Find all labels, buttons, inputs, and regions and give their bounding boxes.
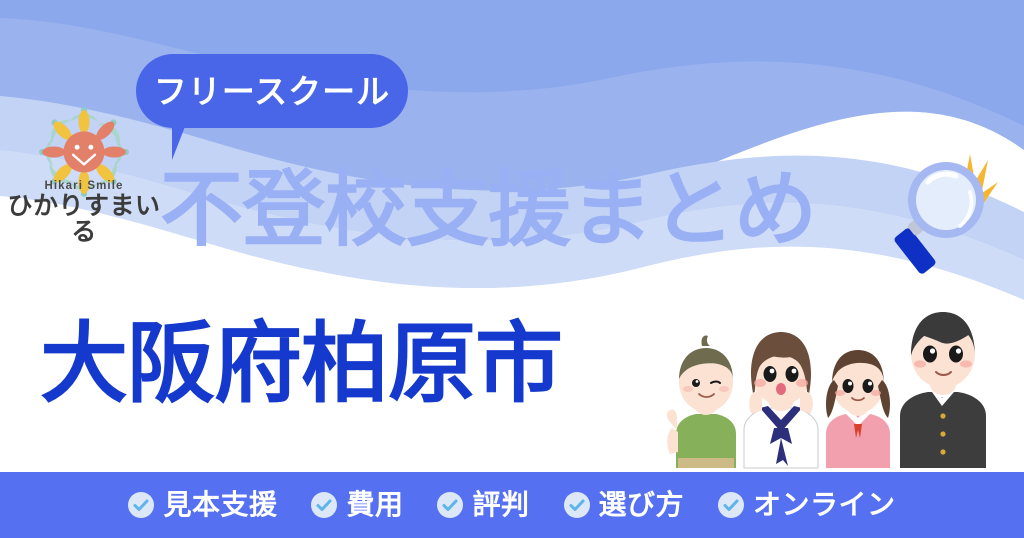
four-students-illustration xyxy=(648,288,1024,480)
badge-tail xyxy=(172,124,204,160)
tag-label: オンライン xyxy=(753,491,896,519)
brand-logo[interactable]: Hikari Smile ひかりすまいる xyxy=(4,104,164,246)
check-circle-icon xyxy=(128,492,154,518)
student-girl-sailor xyxy=(744,332,818,468)
tag-label: 費用 xyxy=(346,491,403,519)
magnifying-glass-icon xyxy=(884,142,1000,278)
feature-tag-bar: 見本支援 費用 評判 選び方 xyxy=(0,472,1024,538)
tag-item[interactable]: 見本支援 xyxy=(128,491,277,519)
location-title: 大阪府柏原市 xyxy=(40,320,562,408)
logo-japanese-name: ひかりすまいる xyxy=(4,193,164,246)
check-circle-icon xyxy=(437,492,463,518)
check-circle-icon xyxy=(564,492,590,518)
check-circle-icon xyxy=(718,492,744,518)
tag-item[interactable]: 選び方 xyxy=(564,491,685,519)
student-boy-green xyxy=(667,335,736,468)
tag-label: 見本支援 xyxy=(163,491,277,519)
student-boy-gakuran xyxy=(900,312,986,468)
banner: フリースクール xyxy=(0,0,1024,538)
check-circle-icon xyxy=(311,492,337,518)
tag-label: 評判 xyxy=(472,491,529,519)
tag-item[interactable]: 評判 xyxy=(437,491,529,519)
tag-item[interactable]: 費用 xyxy=(311,491,403,519)
student-girl-pink xyxy=(826,350,890,468)
free-school-badge[interactable]: フリースクール xyxy=(136,54,408,128)
badge-label: フリースクール xyxy=(154,75,390,108)
logo-english-name: Hikari Smile xyxy=(4,180,164,192)
tag-label: 選び方 xyxy=(599,491,685,519)
tag-item[interactable]: オンライン xyxy=(718,491,896,519)
page-title: 不登校支援まとめ xyxy=(160,168,816,251)
